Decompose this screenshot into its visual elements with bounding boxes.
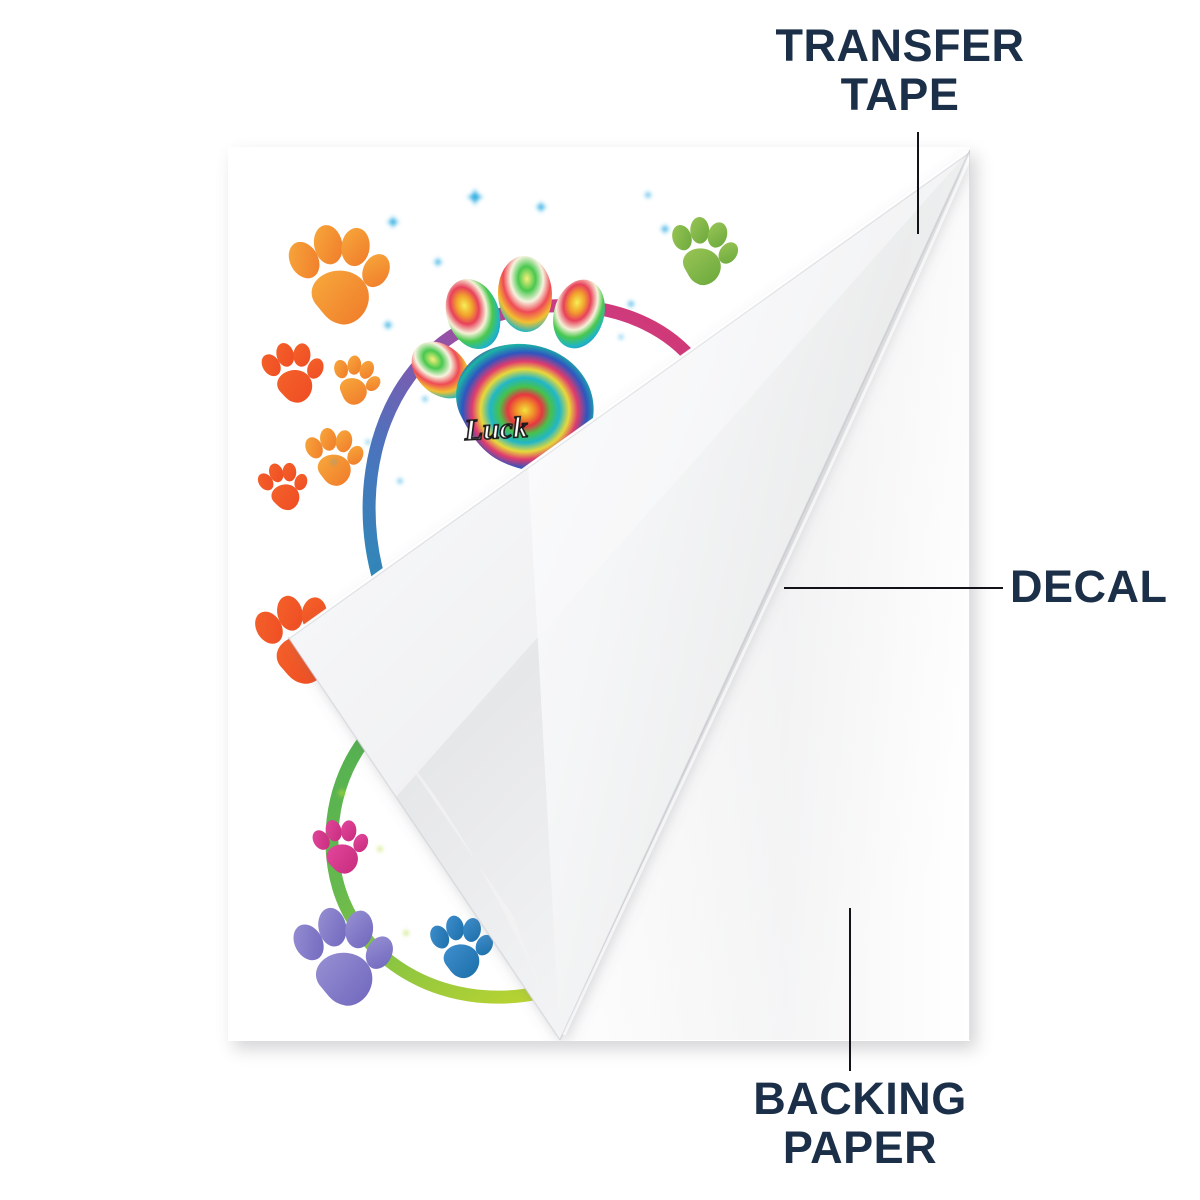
callout-labels: TRANSFER TAPE DECAL BACKING PAPER xyxy=(0,0,1200,1200)
label-backing-paper: BACKING PAPER xyxy=(640,1075,1080,1172)
product-diagram-canvas: Luck Mom of xyxy=(0,0,1200,1200)
label-decal: DECAL xyxy=(1010,563,1168,612)
label-transfer-tape: TRANSFER TAPE xyxy=(700,22,1100,119)
